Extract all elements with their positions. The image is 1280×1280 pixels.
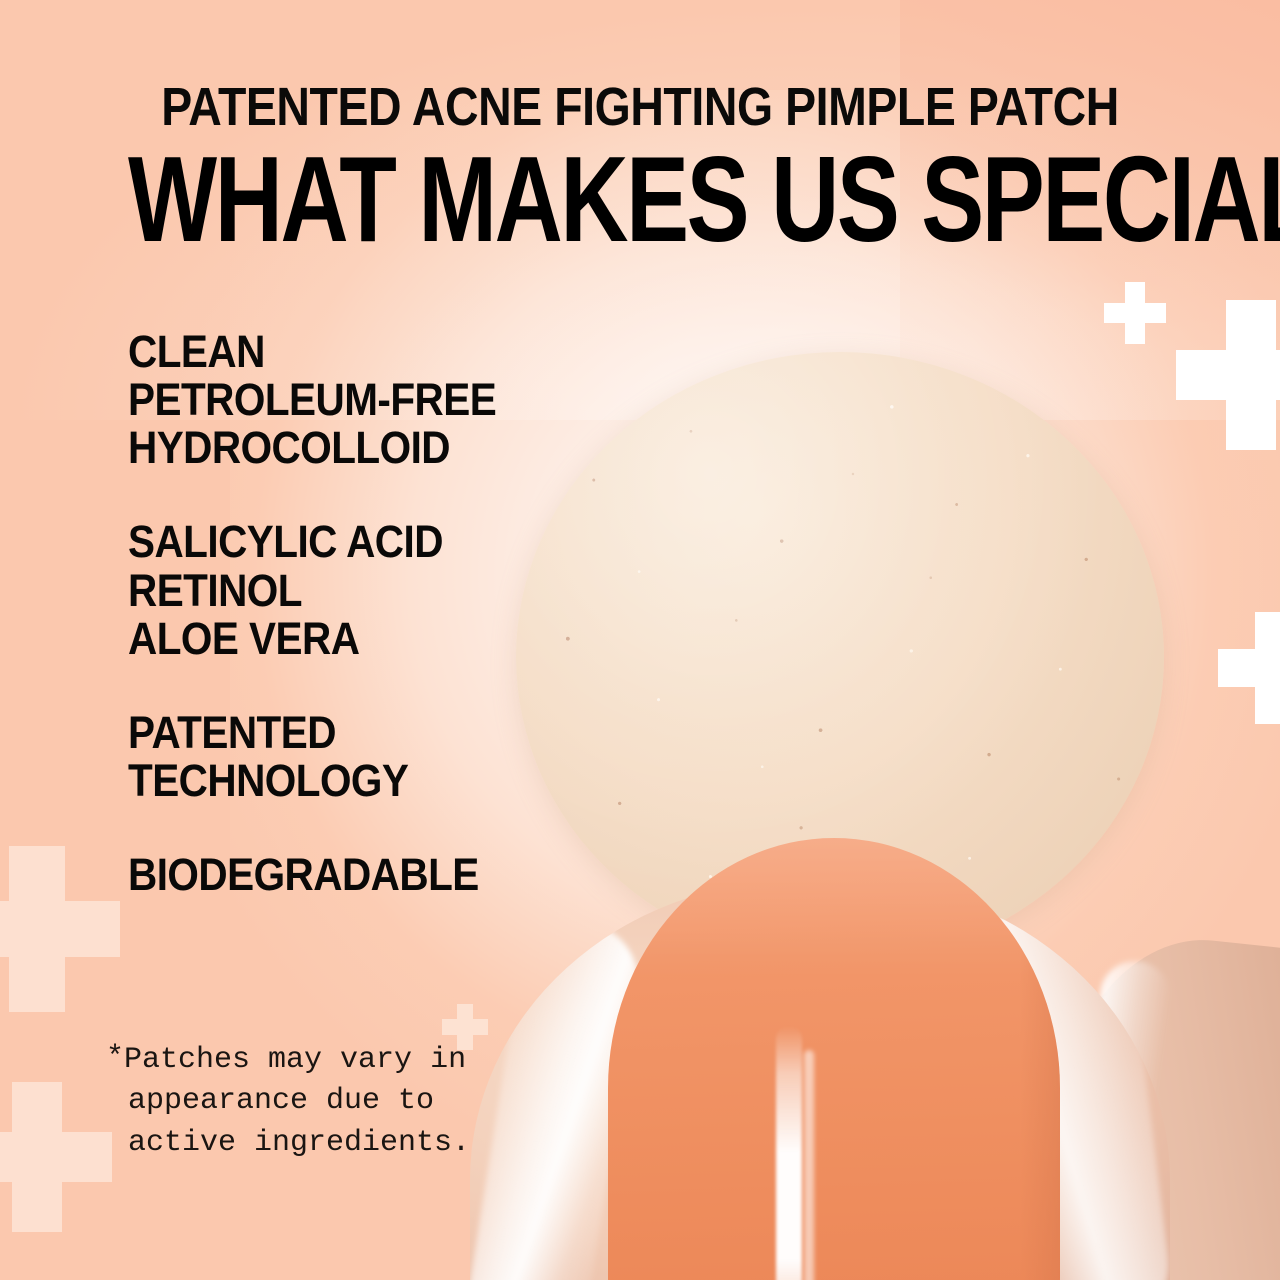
product-infographic: PATENTED ACNE FIGHTING PIMPLE PATCH WHAT… — [0, 0, 1280, 1280]
benefit-line: BIODEGRADABLE — [128, 851, 506, 899]
benefit-line: PETROLEUM-FREE — [128, 376, 506, 424]
benefit-line: ALOE VERA — [128, 615, 506, 663]
disclaimer-line-3: active ingredients. — [106, 1123, 506, 1164]
benefit-group-biodegradable: BIODEGRADABLE — [128, 851, 548, 899]
benefit-line: TECHNOLOGY — [128, 757, 506, 805]
disclaimer-text-1: Patches may vary in — [124, 1043, 466, 1077]
benefit-line: SALICYLIC ACID — [128, 518, 506, 566]
benefit-line: RETINOL — [128, 567, 506, 615]
disclaimer-line-2: appearance due to — [106, 1081, 506, 1122]
benefit-group-active-ingredients: SALICYLIC ACID RETINOL ALOE VERA — [128, 518, 548, 662]
benefit-line: HYDROCOLLOID — [128, 424, 506, 472]
benefit-group-patented-technology: PATENTED TECHNOLOGY — [128, 709, 548, 805]
asterisk-icon: * — [106, 1041, 124, 1075]
benefit-group-clean-hydrocolloid: CLEAN PETROLEUM-FREE HYDROCOLLOID — [128, 328, 548, 472]
benefit-line: CLEAN — [128, 328, 506, 376]
benefit-line: PATENTED — [128, 709, 506, 757]
page-title: WHAT MAKES US SPECIAL — [128, 142, 1152, 259]
disclaimer-line-1: *Patches may vary in — [106, 1038, 506, 1081]
benefits-list: CLEAN PETROLEUM-FREE HYDROCOLLOID SALICY… — [128, 328, 548, 945]
eyebrow-heading: PATENTED ACNE FIGHTING PIMPLE PATCH — [90, 76, 1191, 138]
disclaimer-note: *Patches may vary in appearance due to a… — [106, 1038, 506, 1164]
text-layer: PATENTED ACNE FIGHTING PIMPLE PATCH WHAT… — [0, 0, 1280, 1280]
